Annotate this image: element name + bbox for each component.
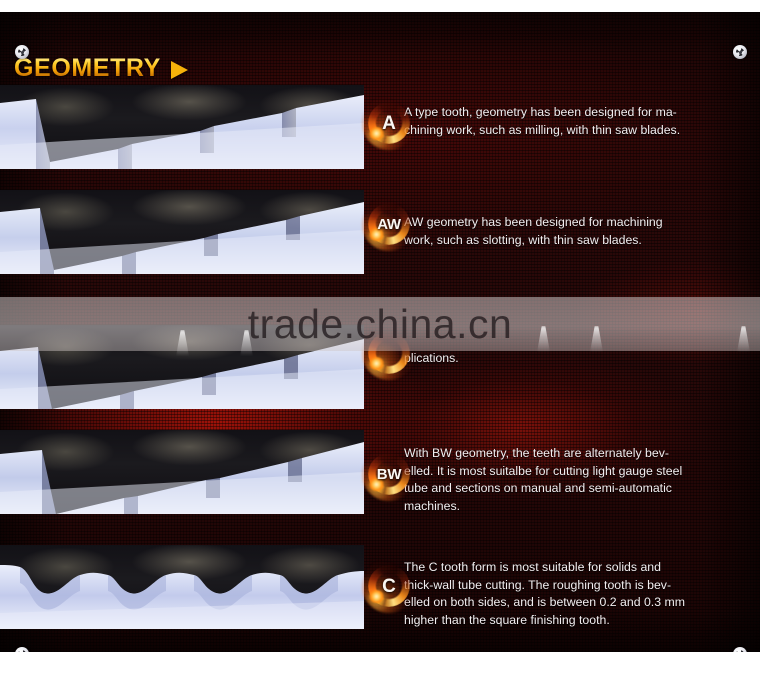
saw-blade-tooth-a-image <box>0 85 364 169</box>
description-aw-line-2: work, such as slotting, with thin saw bl… <box>404 232 754 250</box>
description-a: A type tooth, geometry has been designed… <box>404 104 754 139</box>
saw-blade-tooth-bw-image <box>0 430 364 514</box>
tooth-profile-b <box>0 325 364 409</box>
description-bw-line-3: tube and sections on manual and semi-aut… <box>404 480 754 498</box>
description-b: plications. <box>404 350 754 368</box>
badge-ember-b <box>369 357 384 370</box>
description-bw-line-2: elled. It is most suitalbe for cutting l… <box>404 463 754 481</box>
description-bw: With BW geometry, the teeth are alternat… <box>404 445 754 515</box>
description-b-line-2: plications. <box>404 350 754 368</box>
badge-b <box>368 332 410 374</box>
dark-panel: GEOMETRY <box>0 12 760 652</box>
badge-c: C <box>368 565 410 607</box>
description-c-line-4: higher than the square finishing tooth. <box>404 612 754 630</box>
tooth-profile-bw <box>0 430 364 514</box>
saw-blade-tooth-aw-image <box>0 190 364 274</box>
saw-blade-tooth-b-image <box>0 325 364 409</box>
tooth-profile-c <box>0 545 364 629</box>
badge-icon-bottom-right <box>733 647 747 652</box>
description-c: The C tooth form is most suitable for so… <box>404 559 754 629</box>
badge-letter-a: A <box>382 114 396 133</box>
badge-icon-top-left <box>15 45 29 59</box>
saw-blade-tooth-c-image <box>0 545 364 629</box>
description-c-line-1: The C tooth form is most suitable for so… <box>404 559 754 577</box>
tooth-profile-a <box>0 85 364 169</box>
page-title: GEOMETRY <box>14 56 188 81</box>
badge-letter-bw: BW <box>377 467 401 482</box>
badge-a: A <box>368 102 410 144</box>
badge-bw: BW <box>368 453 410 495</box>
product-geometry-page: GEOMETRY <box>0 0 760 678</box>
arrow-right-icon <box>171 61 188 79</box>
badge-letter-aw: AW <box>377 217 401 232</box>
description-c-line-3: elled on both sides, and is between 0.2 … <box>404 594 754 612</box>
description-a-line-2: chining work, such as milling, with thin… <box>404 122 754 140</box>
badge-icon-top-right <box>733 45 747 59</box>
description-aw: AW geometry has been designed for machin… <box>404 214 754 249</box>
description-bw-line-1: With BW geometry, the teeth are alternat… <box>404 445 754 463</box>
page-title-text: GEOMETRY <box>14 56 161 81</box>
badge-icon-bottom-left <box>15 647 29 652</box>
badge-aw: AW <box>368 203 410 245</box>
description-c-line-2: thick-wall tube cutting. The roughing to… <box>404 577 754 595</box>
description-bw-line-4: machines. <box>404 498 754 516</box>
badge-letter-c: C <box>382 577 396 596</box>
tooth-profile-aw <box>0 190 364 274</box>
description-a-line-1: A type tooth, geometry has been designed… <box>404 104 754 122</box>
description-aw-line-1: AW geometry has been designed for machin… <box>404 214 754 232</box>
